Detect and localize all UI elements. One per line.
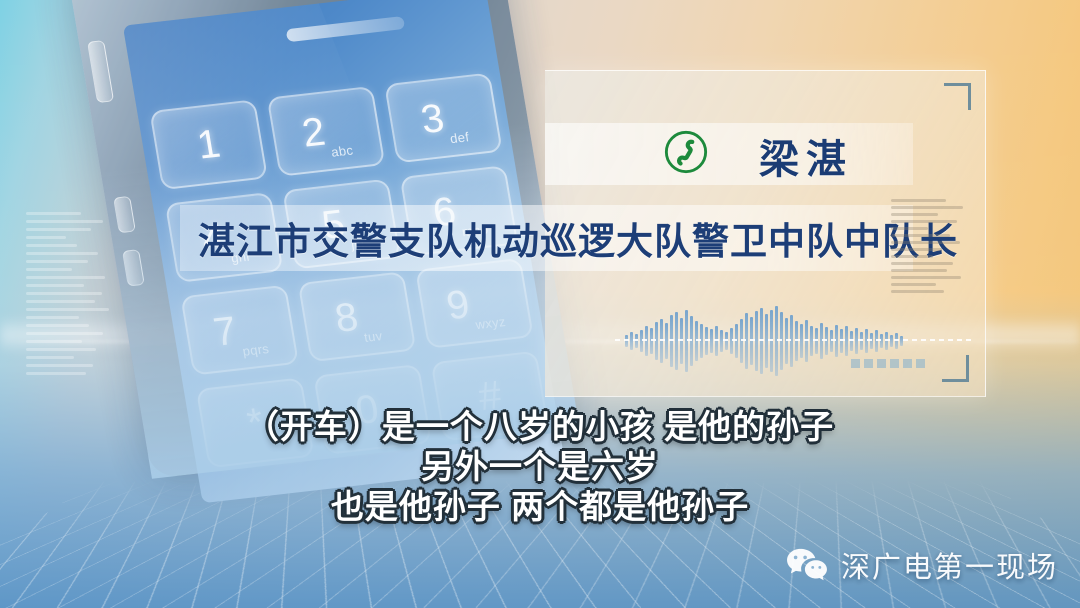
waveform-bar: [665, 323, 668, 359]
waveform-bar: [770, 310, 773, 372]
waveform-bar: [635, 334, 638, 348]
caller-info-panel: 梁湛 湛江市交警支队机动巡逻大队警卫中队中队长: [545, 70, 986, 397]
waveform-bar: [705, 327, 708, 355]
waveform-bar: [835, 325, 838, 357]
waveform-bar: [720, 330, 723, 352]
waveform-bar: [755, 311, 758, 371]
waveform-bar: [800, 324, 803, 358]
waveform-bar: [690, 316, 693, 366]
waveform-bar: [795, 321, 798, 361]
waveform-bar: [735, 324, 738, 358]
waveform-bar: [780, 312, 783, 370]
waveform-bar: [675, 312, 678, 370]
waveform-bar: [785, 318, 788, 364]
waveform-bar: [830, 330, 833, 352]
waveform-bar: [670, 315, 673, 367]
waveform-bar: [900, 336, 903, 346]
corner-bracket-top-right-icon: [944, 83, 971, 110]
background-ghost-text-right: [891, 199, 969, 293]
waveform-bar: [845, 326, 848, 356]
keypad-key-number: 8: [332, 297, 361, 339]
waveform-bar: [750, 317, 753, 365]
waveform-bar: [890, 335, 893, 347]
keypad-key-1: 1: [149, 99, 268, 190]
waveform-bar: [880, 334, 883, 348]
waveform-bar: [725, 332, 728, 350]
subtitle-line: 也是他孙子 两个都是他孙子: [331, 488, 749, 527]
waveform-bar: [860, 332, 863, 350]
waveform-bar: [710, 329, 713, 353]
waveform-bar: [715, 326, 718, 356]
waveform-bar: [680, 318, 683, 364]
waveform-bar: [645, 326, 648, 356]
waveform-bar: [805, 320, 808, 362]
waveform-bar: [660, 319, 663, 363]
waveform-bar: [870, 333, 873, 349]
broadcast-frame: 12abc3def4ghi5jkl6mno7pqrs8tuv9wxyz*0+# …: [0, 0, 1080, 608]
channel-watermark: 深广电第一现场: [784, 544, 1058, 586]
keypad-key-letters: tuv: [363, 328, 385, 354]
waveform-bar: [775, 306, 778, 376]
keypad-key-letters: def: [449, 129, 472, 155]
waveform-bar: [655, 322, 658, 360]
waveform-center-line: [615, 339, 975, 341]
keypad-key-number: 7: [211, 311, 240, 353]
waveform-bar: [790, 315, 793, 367]
keypad-key-9: 9wxyz: [415, 258, 534, 349]
keypad-key-letters: pqrs: [241, 341, 271, 368]
caller-name: 梁湛: [759, 127, 853, 185]
waveform-bar: [765, 314, 768, 368]
background-ghost-text-left: [26, 212, 114, 375]
caller-title: 湛江市交警支队机动巡逻大队警卫中队中队长: [198, 211, 898, 265]
audio-waveform: [625, 293, 970, 389]
waveform-bar: [810, 326, 813, 356]
waveform-bar: [815, 328, 818, 354]
waveform-bar: [840, 329, 843, 353]
subtitle-line: 另外一个是六岁: [421, 448, 659, 487]
waveform-bar: [865, 329, 868, 353]
waveform-bar: [700, 324, 703, 358]
waveform-bar: [745, 313, 748, 369]
watermark-text: 深广电第一现场: [841, 544, 1058, 586]
waveform-bar: [855, 328, 858, 354]
keypad-key-2: 2abc: [267, 86, 386, 177]
keypad-key-3: 3def: [384, 72, 503, 163]
keypad-key-number: 9: [444, 284, 473, 326]
keypad-key-letters: abc: [330, 142, 356, 168]
waveform-bar: [875, 330, 878, 352]
waveform-bar: [730, 328, 733, 354]
waveform-bar: [820, 323, 823, 359]
waveform-bar: [895, 333, 898, 349]
subtitle-line: （开车）是一个八岁的小孩 是他的孙子: [246, 408, 834, 447]
keypad-key-number: 1: [194, 124, 223, 166]
keypad-key-number: 3: [418, 98, 447, 140]
waveform-bar: [695, 321, 698, 361]
waveform-bar: [825, 327, 828, 355]
keypad-key-7: 7pqrs: [180, 285, 299, 376]
waveform-bar: [740, 319, 743, 363]
waveform-bar: [685, 310, 688, 372]
phone-handset-icon: [663, 129, 709, 175]
keypad-key-number: 2: [299, 112, 328, 154]
keypad-key-letters: wxyz: [474, 314, 508, 341]
waveform-bar: [630, 332, 633, 350]
caller-name-band: [545, 123, 913, 185]
waveform-bar: [650, 328, 653, 354]
equalizer-dots: [851, 359, 925, 368]
waveform-bar: [760, 308, 763, 374]
waveform-bar: [625, 335, 628, 347]
waveform-bar: [850, 331, 853, 351]
waveform-bar: [640, 330, 643, 352]
wechat-icon: [784, 546, 830, 584]
waveform-bar: [885, 332, 888, 350]
subtitle-block: （开车）是一个八岁的小孩 是他的孙子另外一个是六岁也是他孙子 两个都是他孙子: [0, 408, 1080, 527]
keypad-key-8: 8tuv: [298, 271, 417, 362]
